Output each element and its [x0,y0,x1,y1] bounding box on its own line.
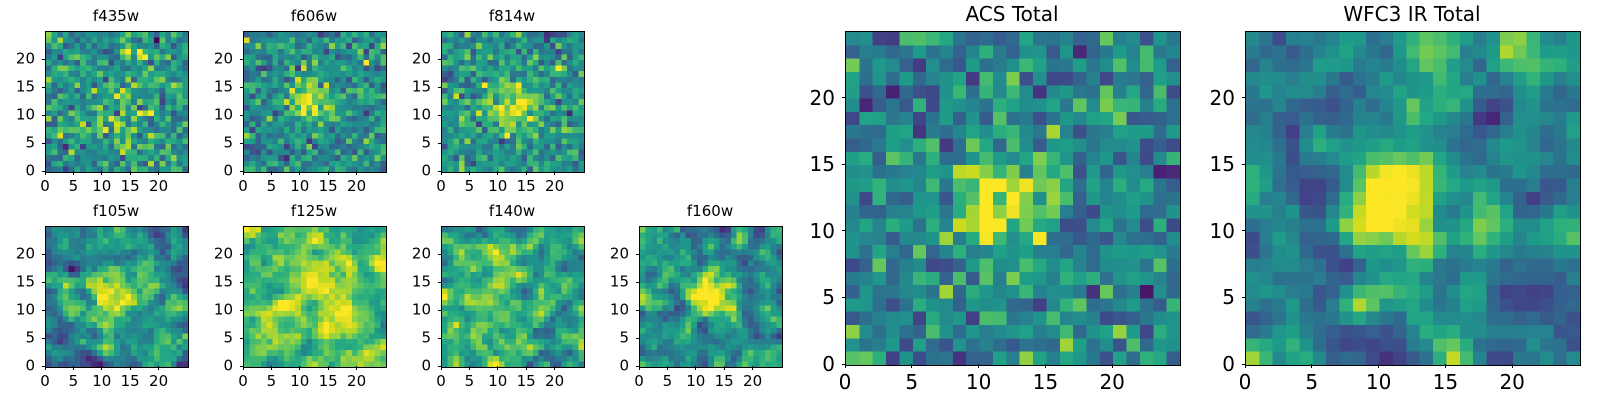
y-tick-mark [1242,297,1246,298]
y-tick-label: 20 [1175,87,1235,109]
y-tick-label: 15 [1175,153,1235,175]
x-tick-label: 20 [1472,371,1552,393]
x-tick-mark [1445,364,1446,368]
y-tick-label: 10 [1175,220,1235,242]
panel-wfc3-ir-total: WFC3 IR Total0510152005101520 [0,0,1600,400]
x-tick-mark [1311,364,1312,368]
heatmap-image [1245,31,1581,366]
panel-title: WFC3 IR Total [1245,2,1579,26]
y-tick-label: 5 [1175,286,1235,308]
heatmap-pixels [1246,32,1580,365]
x-tick-mark [1378,364,1379,368]
x-tick-mark [1512,364,1513,368]
y-tick-mark [1242,230,1246,231]
x-tick-mark [1245,364,1246,368]
y-tick-mark [1242,164,1246,165]
y-tick-mark [1242,97,1246,98]
